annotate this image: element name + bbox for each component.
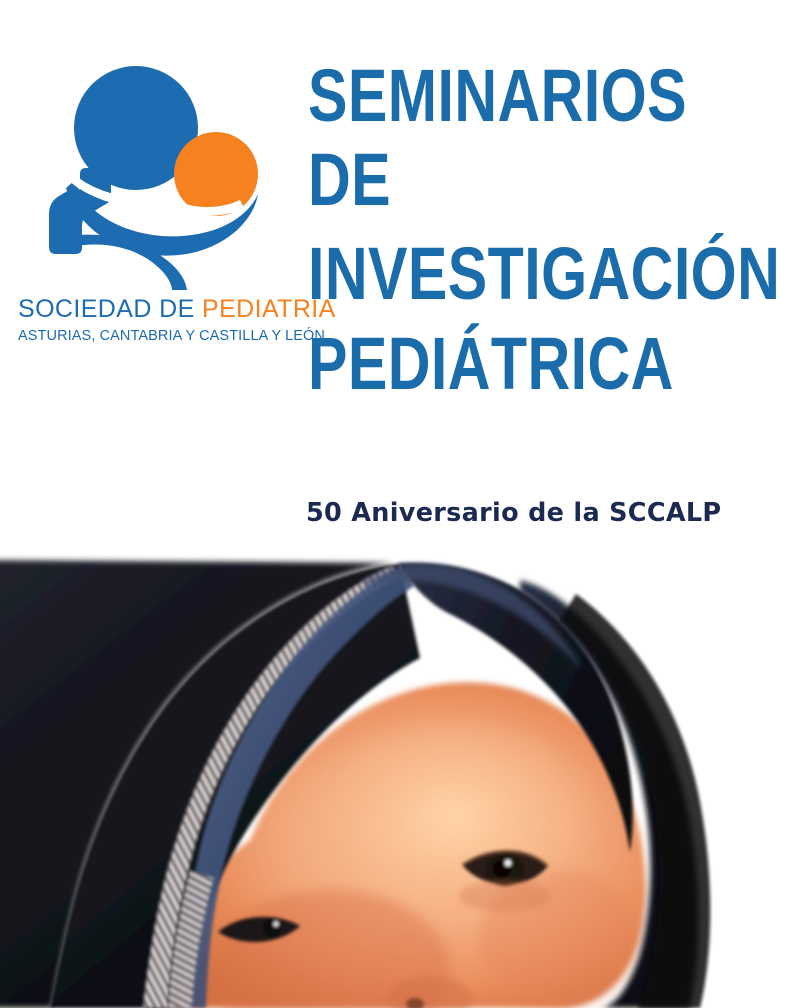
sociedad-de-pediatria-logo-icon — [18, 62, 303, 290]
logo-wordmark: SOCIEDAD DE PEDIATRÍA ASTURIAS, CANTABRI… — [18, 294, 303, 346]
poster-subtitle: 50 Aniversario de la SCCALP — [306, 498, 721, 528]
logo-wordmark-regions: ASTURIAS, CANTABRIA Y CASTILLA Y LEÓN — [18, 326, 303, 346]
cover-photograph — [0, 540, 800, 1008]
title-line-investigacion: INVESTIGACIÓN — [308, 226, 692, 321]
poster-cover: SOCIEDAD DE PEDIATRÍA ASTURIAS, CANTABRI… — [0, 0, 800, 1008]
logo-wordmark-line1: SOCIEDAD DE PEDIATRÍA — [18, 294, 303, 324]
logo-wordmark-sociedad: SOCIEDAD DE — [18, 295, 202, 323]
title-line-seminarios: SEMINARIOS — [308, 58, 692, 134]
poster-title: SEMINARIOS DE INVESTIGACIÓN PEDIÁTRICA — [308, 58, 788, 407]
title-line-pediatrica: PEDIÁTRICA — [308, 321, 692, 407]
title-line-de: DE — [308, 134, 692, 226]
logo-block: SOCIEDAD DE PEDIATRÍA ASTURIAS, CANTABRI… — [18, 62, 303, 362]
